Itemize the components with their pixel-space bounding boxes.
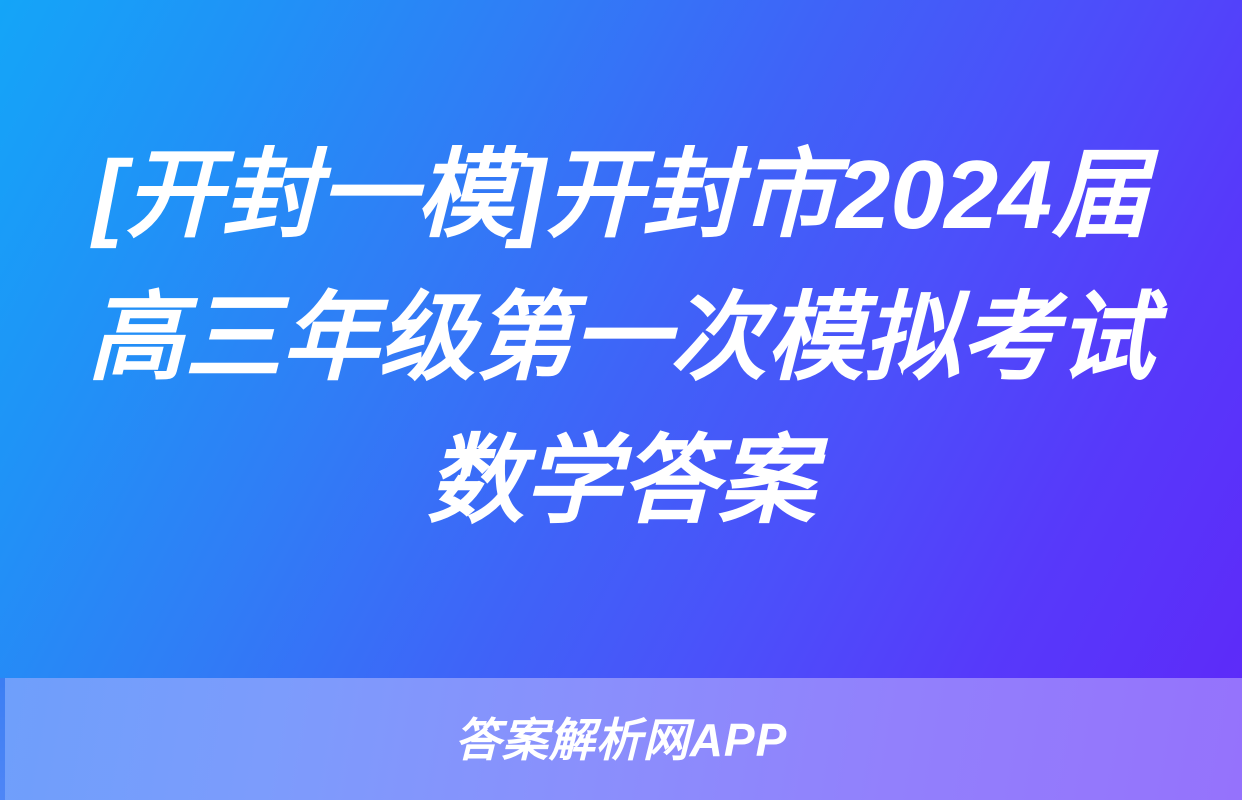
page-title: [开封一模]开封市2024届高三年级第一次模拟考试数学答案 — [71, 123, 1171, 552]
brand-label: 答案解析网APP — [455, 714, 788, 766]
exam-title-banner: [开封一模]开封市2024届高三年级第一次模拟考试数学答案 答案解析网APP — [0, 0, 1242, 800]
footer-edge-accent — [0, 678, 5, 800]
hero-gradient-panel: [开封一模]开封市2024届高三年级第一次模拟考试数学答案 — [0, 0, 1242, 678]
footer-brand-band: 答案解析网APP — [0, 678, 1242, 800]
